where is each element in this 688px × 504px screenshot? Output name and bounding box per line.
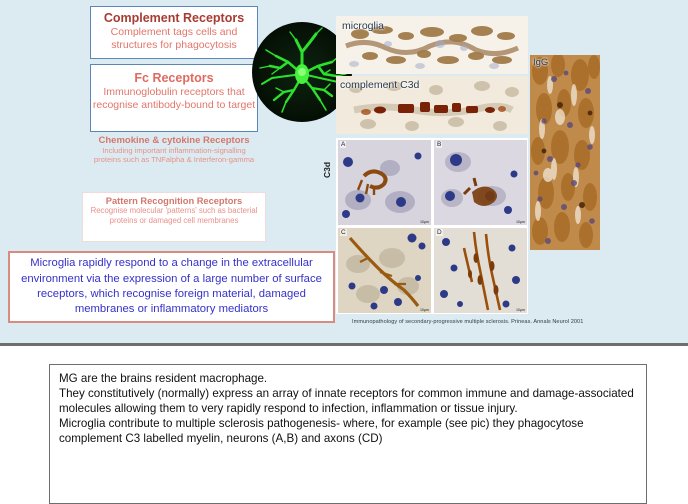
receptor-box-fc: Fc Receptors Immunoglobulin receptors th… <box>90 64 258 132</box>
grid-cell-c-scalebar: 10µm <box>420 308 429 312</box>
grid-cell-a-letter: A <box>340 141 346 148</box>
grid-cell-b: B 10µm <box>434 140 527 225</box>
grid-cell-c: C 10µm <box>338 228 431 313</box>
slide-notes-divider <box>0 343 688 346</box>
igg-panel-graphic <box>530 55 600 250</box>
receptor-box-pattern-recognition-title: Pattern Recognition Receptors <box>83 196 265 206</box>
receptor-box-complement: Complement Receptors Complement tags cel… <box>90 6 258 59</box>
slide-canvas: Complement Receptors Complement tags cel… <box>0 0 688 343</box>
receptor-box-chemokine: Chemokine & cytokine Receptors Including… <box>90 136 258 188</box>
histology-grid-c3d: A 10µm B 10µm <box>336 138 528 314</box>
summary-callout-text: Microglia rapidly respond to a change in… <box>16 256 327 317</box>
grid-cell-c-graphic <box>338 228 431 313</box>
grid-cell-a: A 10µm <box>338 140 431 225</box>
receptor-box-fc-title: Fc Receptors <box>91 71 257 85</box>
receptor-box-chemokine-body: Including important inflammation-signall… <box>90 147 258 165</box>
grid-axis-label-c3d: C3d <box>322 162 332 178</box>
grid-cell-d: D 10µm <box>434 228 527 313</box>
grid-cell-b-graphic <box>434 140 527 225</box>
notes-line-1: MG are the brains resident macrophage. <box>59 372 637 387</box>
panel-label-igg: IgG <box>533 57 548 68</box>
receptor-box-complement-title: Complement Receptors <box>91 11 257 25</box>
histology-panel-igg: IgG <box>530 55 600 250</box>
grid-cell-d-letter: D <box>436 229 443 236</box>
receptor-box-fc-body: Immunoglobulin receptors that recognise … <box>91 86 257 112</box>
grid-cell-b-scalebar: 10µm <box>516 220 525 224</box>
receptor-box-pattern-recognition: Pattern Recognition Receptors Recognise … <box>82 192 266 242</box>
grid-cell-d-graphic <box>434 228 527 313</box>
receptor-box-complement-body: Complement tags cells and structures for… <box>91 26 257 52</box>
panel-label-complement-c3d: complement C3d <box>340 79 419 91</box>
figure-citation: Immunopathology of secondary-progressive… <box>352 319 684 325</box>
grid-cell-a-graphic <box>338 140 431 225</box>
grid-cell-c-letter: C <box>340 229 347 236</box>
histology-panel-microglia: microglia <box>336 16 528 74</box>
notes-line-3: Microglia contribute to multiple scleros… <box>59 417 637 447</box>
grid-cell-a-scalebar: 10µm <box>420 220 429 224</box>
notes-line-2: They constitutively (normally) express a… <box>59 387 637 417</box>
grid-cell-b-letter: B <box>436 141 442 148</box>
histology-panel-complement-c3d: complement C3d <box>336 76 528 134</box>
speaker-notes-box[interactable]: MG are the brains resident macrophage. T… <box>49 364 647 504</box>
panel-label-microglia: microglia <box>342 20 384 32</box>
summary-callout: Microglia rapidly respond to a change in… <box>8 251 335 323</box>
receptor-box-pattern-recognition-body: Recognise molecular 'patterns' such as b… <box>83 206 265 225</box>
grid-cell-d-scalebar: 10µm <box>516 308 525 312</box>
